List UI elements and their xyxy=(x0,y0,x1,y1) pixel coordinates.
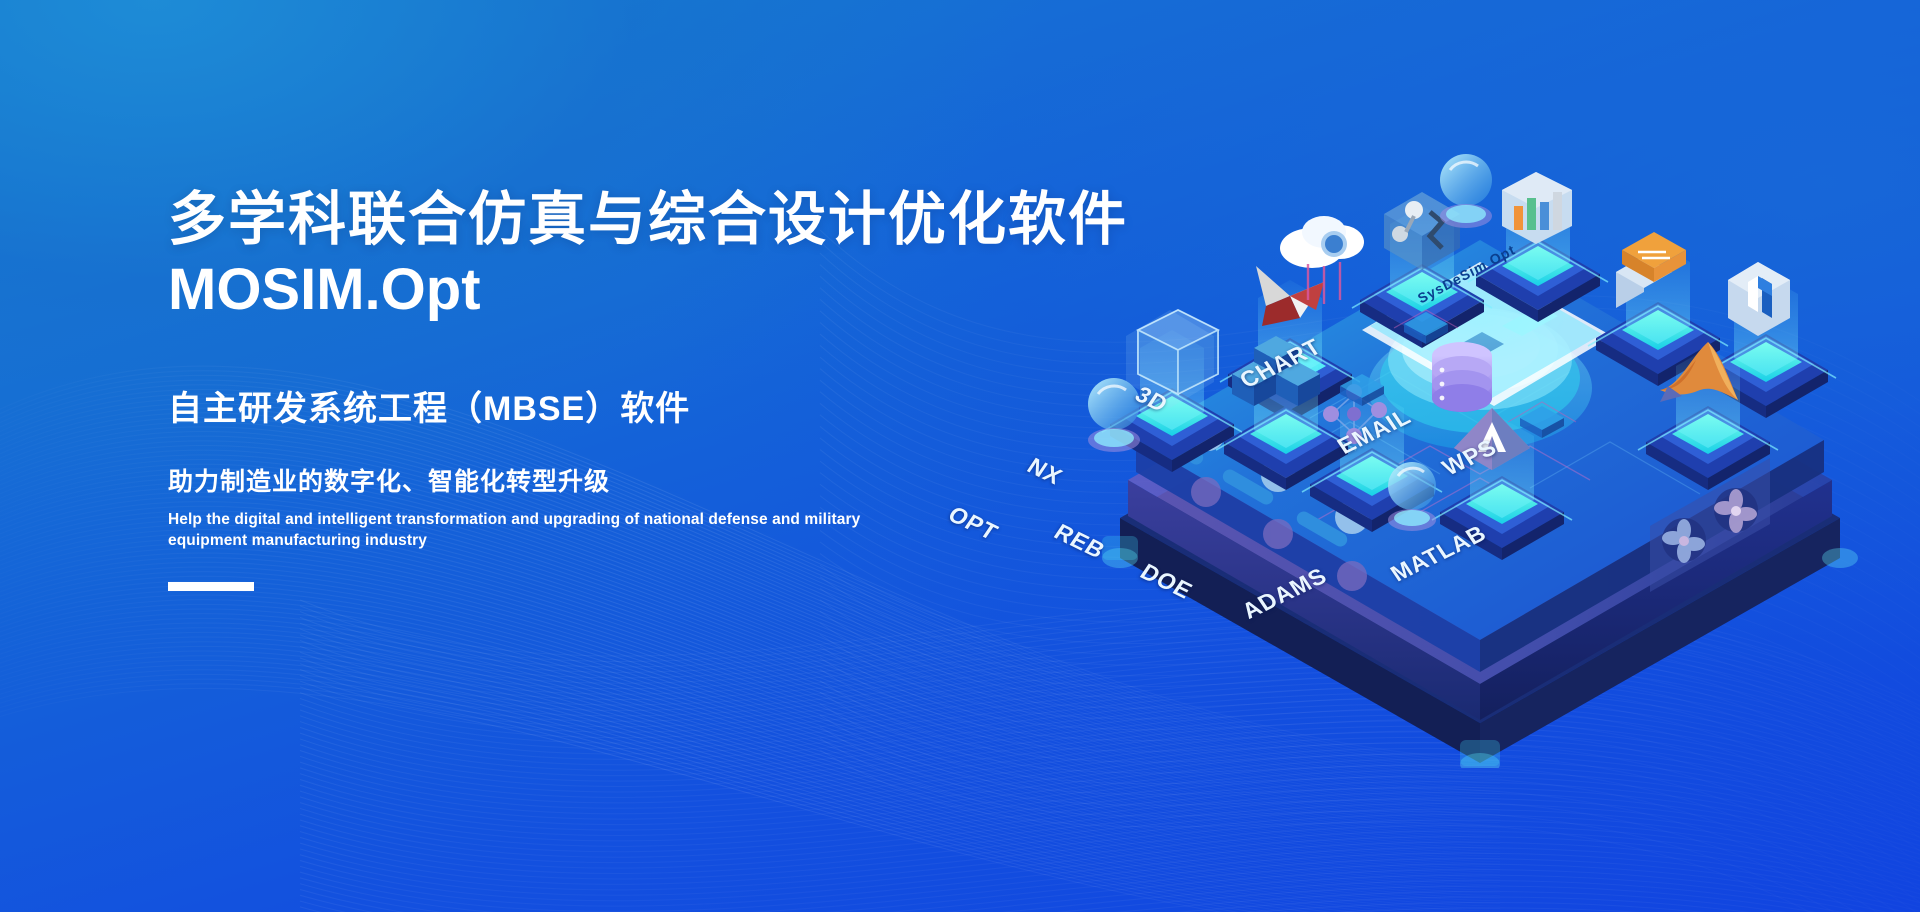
accent-rule xyxy=(168,582,254,591)
isometric-illustration: NX 3D CHART EMAIL WPS MATLAB ADAMS DOE R… xyxy=(1010,88,1910,768)
hero-description-en: Help the digital and intelligent transfo… xyxy=(168,510,868,552)
database-icon xyxy=(1432,342,1492,412)
hero-banner: 多学科联合仿真与综合设计优化软件 MOSIM.Opt 自主研发系统工程（MBSE… xyxy=(0,0,1920,912)
isometric-platform-svg xyxy=(1010,88,1910,768)
wireframe-cube-icon xyxy=(1126,310,1218,408)
